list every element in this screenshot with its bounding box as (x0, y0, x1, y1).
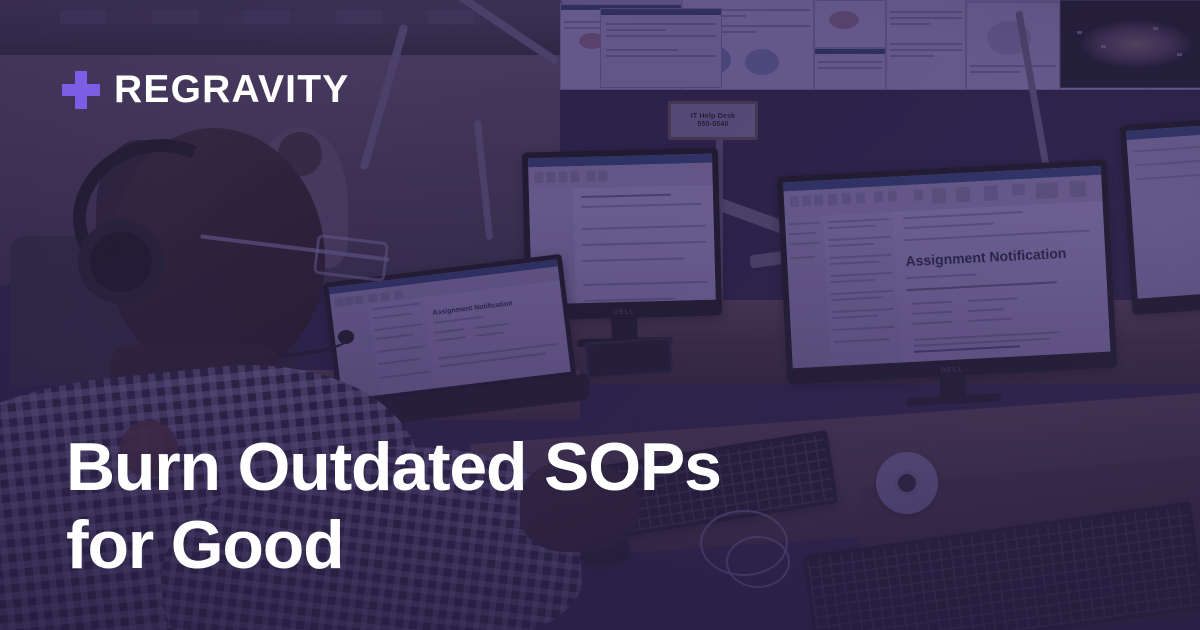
headline-line-1: Burn Outdated SOPs (66, 428, 926, 507)
social-share-card: IT Help Desk 555-0540 DELL (0, 0, 1200, 630)
card-content: REGRAVITY Burn Outdated SOPs for Good (0, 0, 1200, 630)
page-title: Burn Outdated SOPs for Good (66, 428, 926, 586)
brand-logo[interactable]: REGRAVITY (62, 70, 349, 109)
headline-line-2: for Good (66, 506, 926, 585)
plus-icon (62, 71, 100, 109)
brand-name: REGRAVITY (114, 70, 349, 109)
